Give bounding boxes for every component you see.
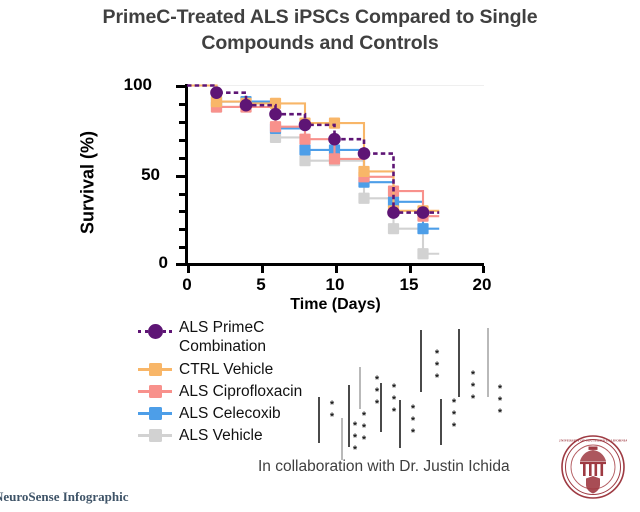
- significance-bar: [399, 400, 401, 448]
- significance-stars: ***: [389, 382, 398, 418]
- significance-stars: **: [327, 399, 336, 423]
- significance-bar: [341, 418, 343, 460]
- significance-bar: [359, 367, 361, 409]
- significance-bar: [420, 330, 422, 392]
- significance-bar: [440, 399, 442, 445]
- significance-annotations: *****************************: [0, 0, 640, 512]
- significance-stars: ***: [468, 369, 477, 405]
- significance-bar: [487, 328, 489, 397]
- significance-bar: [380, 383, 382, 432]
- svg-text:UNIVERSITY OF SOUTHERN CALIFOR: UNIVERSITY OF SOUTHERN CALIFORNIA: [559, 438, 627, 442]
- significance-bar: [318, 397, 320, 443]
- significance-bar: [348, 385, 350, 447]
- significance-stars: ***: [495, 383, 504, 419]
- significance-stars: ***: [408, 403, 417, 439]
- brand-label: NeuroSense Infographic: [0, 489, 128, 505]
- infographic-root: PrimeC-Treated ALS iPSCs Compared to Sin…: [0, 0, 640, 512]
- significance-stars: ***: [432, 348, 441, 384]
- significance-stars: ***: [359, 410, 368, 446]
- collaboration-note: In collaboration with Dr. Justin Ichida: [258, 458, 510, 476]
- significance-stars: ***: [449, 397, 458, 433]
- significance-bar: [458, 329, 460, 397]
- usc-seal: UNIVERSITY OF SOUTHERN CALIFORNIA: [559, 433, 627, 501]
